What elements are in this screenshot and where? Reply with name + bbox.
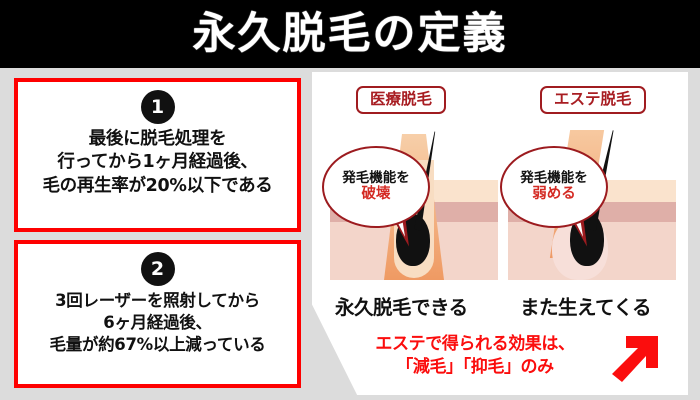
definition-line: 最後に脱毛処理を (18, 128, 297, 151)
step-badge-2: 2 (141, 252, 175, 286)
bottom-message-line: 「減毛」「抑毛」のみ (330, 356, 620, 379)
bubble-line-2: 破壊 (362, 186, 391, 203)
definition-line: 行ってから1ヶ月経過後、 (18, 151, 297, 174)
bubble-line-1: 発毛機能を (520, 170, 588, 186)
definition-card-1: 1 最後に脱毛処理を 行ってから1ヶ月経過後、 毛の再生率が20%以下である (14, 78, 301, 232)
speech-bubble-medical: 発毛機能を 破壊 (322, 146, 430, 228)
speech-bubble-salon: 発毛機能を 弱める (500, 146, 608, 228)
bubble-line-1: 発毛機能を (342, 170, 410, 186)
tag-medical: 医療脱毛 (356, 86, 446, 114)
header-bar: 永久脱毛の定義 (0, 0, 700, 68)
bottom-message-line: エステで得られる効果は、 (330, 333, 620, 356)
definition-text-2: 3回レーザーを照射してから 6ヶ月経過後、 毛量が約67%以上減っている (18, 290, 297, 356)
definition-text-1: 最後に脱毛処理を 行ってから1ヶ月経過後、 毛の再生率が20%以下である (18, 128, 297, 198)
bottom-message: エステで得られる効果は、 「減毛」「抑毛」のみ (330, 333, 620, 379)
tag-salon: エステ脱毛 (540, 86, 646, 114)
definition-list: 1 最後に脱毛処理を 行ってから1ヶ月経過後、 毛の再生率が20%以下である 2… (14, 78, 301, 388)
page-title: 永久脱毛の定義 (0, 0, 700, 68)
definition-line: 毛量が約67%以上減っている (18, 334, 297, 356)
step-badge-1: 1 (141, 90, 175, 124)
result-medical: 永久脱毛できる (335, 291, 468, 320)
result-salon: また生えてくる (520, 291, 651, 320)
definition-line: 毛の再生率が20%以下である (18, 175, 297, 198)
arrow-up-right-icon (608, 332, 660, 384)
bubble-line-2: 弱める (532, 186, 576, 203)
definition-line: 6ヶ月経過後、 (18, 312, 297, 334)
definition-card-2: 2 3回レーザーを照射してから 6ヶ月経過後、 毛量が約67%以上減っている (14, 240, 301, 388)
definition-line: 3回レーザーを照射してから (18, 290, 297, 312)
infographic-root: 永久脱毛の定義 1 最後に脱毛処理を 行ってから1ヶ月経過後、 毛の再生率が20… (0, 0, 700, 400)
